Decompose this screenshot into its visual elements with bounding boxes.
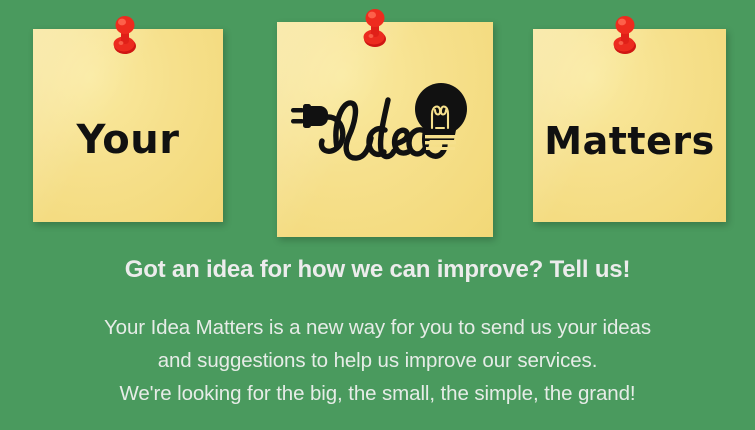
body-line: and suggestions to help us improve our s…: [24, 344, 731, 377]
sticky-note-matters: Matters: [533, 29, 726, 222]
sticky-note-matters-surface: Matters: [533, 29, 726, 222]
body-line: Your Idea Matters is a new way for you t…: [24, 311, 731, 344]
sticky-note-idea: [277, 22, 493, 237]
idea-campaign-poster: Your: [0, 0, 755, 430]
sticky-note-your-label: Your: [33, 117, 223, 163]
body-copy: Your Idea Matters is a new way for you t…: [24, 311, 731, 410]
sticky-notes-row: Your: [0, 0, 755, 248]
electric-plug-icon: [291, 104, 328, 128]
idea-logo-graphic: [289, 78, 481, 178]
sticky-note-your-surface: Your: [33, 29, 223, 222]
headline: Got an idea for how we can improve? Tell…: [24, 255, 731, 285]
sticky-note-idea-surface: [277, 22, 493, 237]
sticky-note-your: Your: [33, 29, 223, 222]
body-line: We're looking for the big, the small, th…: [24, 377, 731, 410]
poster-copy: Got an idea for how we can improve? Tell…: [0, 255, 755, 410]
sticky-note-matters-label: Matters: [533, 119, 726, 163]
